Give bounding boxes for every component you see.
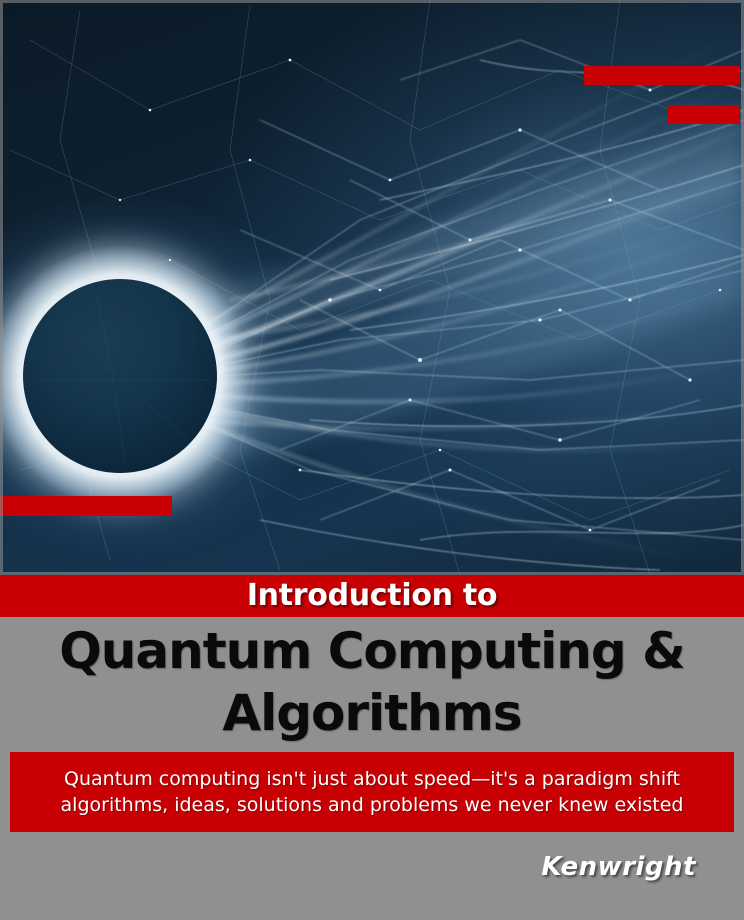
accent-bar-top-right-1 — [584, 66, 740, 85]
subtitle-line-1: Quantum computing isn't just about speed… — [64, 766, 680, 792]
title-line-1: Quantum Computing & — [0, 620, 744, 682]
page-title: Quantum Computing & Algorithms — [0, 620, 744, 744]
accent-bar-bottom-left — [0, 496, 172, 516]
cover-artwork — [0, 0, 744, 575]
title-kicker: Introduction to — [247, 581, 497, 611]
accent-bar-top-right-2 — [668, 105, 740, 124]
portal-sphere — [23, 279, 217, 473]
book-cover: Introduction to Quantum Computing & Algo… — [0, 0, 744, 920]
title-line-2: Algorithms — [0, 682, 744, 744]
subtitle-band: Quantum computing isn't just about speed… — [10, 752, 734, 832]
author-name: Kenwright — [541, 852, 696, 882]
quantum-network-illustration — [0, 0, 744, 575]
title-kicker-band: Introduction to — [0, 575, 744, 617]
subtitle-line-2: algorithms, ideas, solutions and problem… — [61, 792, 684, 818]
